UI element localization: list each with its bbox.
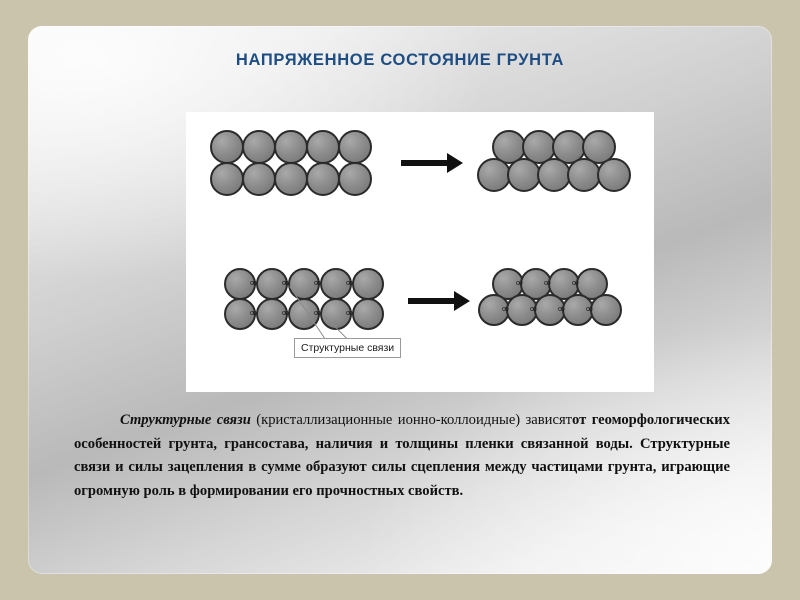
grain: [537, 158, 571, 192]
bond-marker: оо: [530, 306, 536, 313]
grain: [210, 130, 244, 164]
bond-marker: оо: [572, 280, 578, 287]
callout-structural-bonds: Структурные связи: [294, 338, 401, 358]
bond-marker: оо: [346, 310, 352, 317]
grain: [306, 130, 340, 164]
paragraph-lead-italic: Структурные связи: [120, 412, 251, 428]
grain: [306, 162, 340, 196]
bond-marker: оо: [558, 306, 564, 313]
soil-structure-figure: оо оо оо оо оо оо оо оо оо оо оо оо оо о…: [186, 112, 654, 392]
bond-marker: оо: [314, 310, 320, 317]
bond-marker: оо: [282, 310, 288, 317]
grain: [274, 130, 308, 164]
grain: [567, 158, 601, 192]
bond-marker: оо: [282, 280, 288, 287]
grain: [597, 158, 631, 192]
grain: [338, 130, 372, 164]
bond-marker: оо: [516, 280, 522, 287]
grain: [477, 158, 511, 192]
grain: [590, 294, 622, 326]
paragraph-lead-normal: (кристаллизационные ионно-коллоидные) за…: [251, 412, 572, 428]
grain: [352, 298, 384, 330]
bond-marker: оо: [346, 280, 352, 287]
bond-marker: оо: [250, 280, 256, 287]
bond-marker: оо: [250, 310, 256, 317]
grain: [338, 162, 372, 196]
slide: НАПРЯЖЕННОЕ СОСТОЯНИЕ ГРУНТА: [28, 26, 772, 574]
grain: [274, 162, 308, 196]
body-paragraph: Структурные связи (кристаллизационные ио…: [74, 409, 730, 504]
bond-marker: оо: [586, 306, 592, 313]
grain: [242, 130, 276, 164]
bond-marker: оо: [502, 306, 508, 313]
grain: [242, 162, 276, 196]
bond-marker: оо: [544, 280, 550, 287]
bond-marker: оо: [314, 280, 320, 287]
page-title: НАПРЯЖЕННОЕ СОСТОЯНИЕ ГРУНТА: [28, 51, 772, 70]
grain: [210, 162, 244, 196]
grain: [507, 158, 541, 192]
grain: [352, 268, 384, 300]
